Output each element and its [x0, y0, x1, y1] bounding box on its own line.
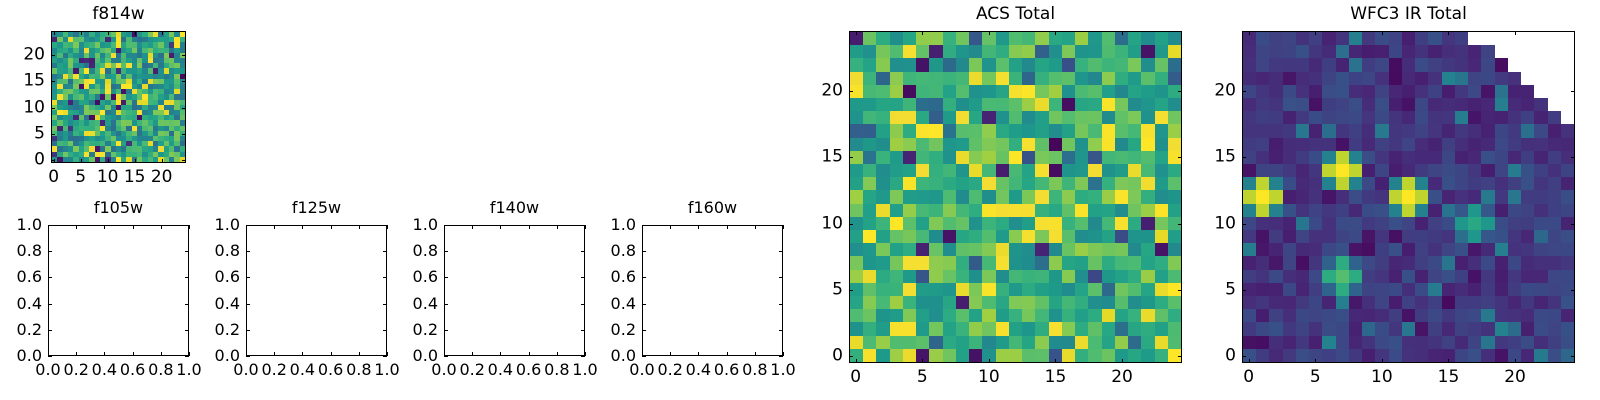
heatmap-cell: [850, 322, 863, 335]
heatmap-cell: [1362, 283, 1375, 296]
heatmap-cell: [929, 32, 942, 45]
heatmap-cell: [1309, 58, 1322, 71]
heatmap-cell: [1495, 349, 1508, 362]
heatmap-cell: [943, 270, 956, 283]
y-tick-label: 0.0: [413, 348, 438, 364]
heatmap-cell: [1256, 283, 1269, 296]
heatmap-cell: [1115, 256, 1128, 269]
y-tick-label: 10: [23, 99, 45, 116]
heatmap-cell: [1428, 230, 1441, 243]
heatmap-cell: [1442, 45, 1455, 58]
heatmap-cell: [1309, 124, 1322, 137]
heatmap-cell: [1336, 111, 1349, 124]
x-tick-label: 0.8: [742, 362, 767, 378]
y-tick: [1242, 157, 1246, 158]
heatmap-cell: [876, 336, 889, 349]
y-tick: [48, 251, 52, 252]
heatmap-cell: [1128, 124, 1141, 137]
heatmap-cell: [982, 151, 995, 164]
heatmap-cell: [1495, 283, 1508, 296]
heatmap-cell: [1009, 230, 1022, 243]
heatmap-cell: [1362, 124, 1375, 137]
heatmap-cell: [1561, 336, 1574, 349]
y-tick: [779, 356, 783, 357]
y-tick-label: 10: [821, 215, 843, 232]
heatmap-cell: [982, 124, 995, 137]
y-tick-label: 20: [821, 82, 843, 99]
heatmap-cell: [1022, 296, 1035, 309]
heatmap-cell: [1102, 58, 1115, 71]
heatmap-cell: [1128, 217, 1141, 230]
heatmap-cell: [850, 111, 863, 124]
heatmap-cell: [876, 164, 889, 177]
y-tick: [246, 356, 250, 357]
heatmap-cell: [1115, 124, 1128, 137]
heatmap-cell: [1322, 111, 1335, 124]
y-tick: [1571, 356, 1575, 357]
heatmap-cell: [1322, 85, 1335, 98]
heatmap-cell: [1141, 322, 1154, 335]
heatmap-cell: [969, 32, 982, 45]
heatmap-cell: [969, 177, 982, 190]
y-tick: [1178, 91, 1182, 92]
heatmap-cell: [996, 151, 1009, 164]
heatmap-cell: [1309, 85, 1322, 98]
heatmap-cell: [1428, 177, 1441, 190]
heatmap-cell: [929, 243, 942, 256]
heatmap-cell: [1062, 138, 1075, 151]
heatmap-cell: [1062, 256, 1075, 269]
heatmap-cell: [1035, 283, 1048, 296]
heatmap-cell: [890, 349, 903, 362]
heatmap-cell: [1389, 217, 1402, 230]
heatmap-cell: [903, 85, 916, 98]
heatmap-cell: [1534, 256, 1547, 269]
heatmap-cell: [956, 151, 969, 164]
heatmap-cell-masked: [1468, 32, 1481, 45]
heatmap-cell: [1035, 243, 1048, 256]
heatmap-cell: [850, 164, 863, 177]
heatmap-cell: [1062, 111, 1075, 124]
heatmap-cell: [1389, 111, 1402, 124]
heatmap-cell: [1442, 204, 1455, 217]
heatmap-cell: [1102, 217, 1115, 230]
heatmap-cell-masked: [1481, 32, 1494, 45]
heatmap-cell: [1168, 204, 1181, 217]
y-tick: [581, 225, 585, 226]
x-tick: [1382, 31, 1383, 35]
heatmap-cell: [1468, 124, 1481, 137]
heatmap-cell: [1495, 217, 1508, 230]
heatmap-cell: [956, 190, 969, 203]
heatmap-cell: [929, 72, 942, 85]
heatmap-cell: [1349, 256, 1362, 269]
heatmap-cell: [1508, 309, 1521, 322]
heatmap-cell: [929, 177, 942, 190]
heatmap-cell: [1375, 270, 1388, 283]
heatmap-cell: [1402, 72, 1415, 85]
heatmap-cell: [943, 256, 956, 269]
heatmap-cell: [1468, 138, 1481, 151]
heatmap-cell: [956, 32, 969, 45]
heatmap-cell: [1362, 256, 1375, 269]
heatmap-cell: [1088, 177, 1101, 190]
heatmap-cell: [1141, 151, 1154, 164]
heatmap-cell: [903, 111, 916, 124]
heatmap-cell: [1141, 336, 1154, 349]
heatmap-cell: [1362, 58, 1375, 71]
y-tick: [1571, 290, 1575, 291]
heatmap-cell: [1049, 98, 1062, 111]
heatmap-cell: [863, 256, 876, 269]
heatmap-cell: [1415, 164, 1428, 177]
heatmap-cell-masked: [1534, 58, 1547, 71]
heatmap-cell: [916, 217, 929, 230]
heatmap-cell: [1035, 230, 1048, 243]
heatmap-cell: [850, 72, 863, 85]
heatmap-cell: [1088, 256, 1101, 269]
heatmap-cell: [929, 124, 942, 137]
heatmap-cell-masked: [1521, 58, 1534, 71]
heatmap-cell: [1269, 190, 1282, 203]
heatmap-cell: [1362, 32, 1375, 45]
heatmap-cell: [956, 336, 969, 349]
heatmap-cell: [1428, 111, 1441, 124]
heatmap-cell: [1115, 230, 1128, 243]
heatmap-cell: [876, 151, 889, 164]
heatmap-cell: [1009, 45, 1022, 58]
x-tick-label: 0.6: [318, 362, 343, 378]
heatmap-cell-masked: [1521, 45, 1534, 58]
heatmap-cell: [1375, 336, 1388, 349]
x-tick: [529, 352, 530, 356]
heatmap-cell: [1322, 296, 1335, 309]
heatmap-cell: [890, 72, 903, 85]
heatmap-cell: [1375, 230, 1388, 243]
heatmap-cell: [1521, 349, 1534, 362]
y-tick: [642, 277, 646, 278]
heatmap-cell: [1521, 322, 1534, 335]
y-tick: [581, 277, 585, 278]
heatmap-cell-masked: [1548, 98, 1561, 111]
heatmap-cell: [1375, 164, 1388, 177]
heatmap-cell: [1102, 151, 1115, 164]
heatmap-cell: [1362, 270, 1375, 283]
heatmap-cell: [1336, 138, 1349, 151]
x-tick: [557, 352, 558, 356]
heatmap-cell: [1256, 72, 1269, 85]
heatmap-cell: [1088, 309, 1101, 322]
heatmap-cell: [1481, 270, 1494, 283]
heatmap-cell: [1508, 336, 1521, 349]
heatmap-cell: [876, 98, 889, 111]
heatmap-cell: [1088, 164, 1101, 177]
y-tick-label: 0.8: [413, 243, 438, 259]
heatmap-cell: [850, 98, 863, 111]
heatmap-cell: [1402, 138, 1415, 151]
heatmap-cell: [1283, 32, 1296, 45]
heatmap-cell: [1415, 256, 1428, 269]
heatmap-cell: [996, 270, 1009, 283]
heatmap-cell: [1375, 177, 1388, 190]
y-tick-label: 0.8: [17, 243, 42, 259]
heatmap-cell: [1141, 230, 1154, 243]
heatmap-cell: [1521, 336, 1534, 349]
heatmap-cell: [1256, 138, 1269, 151]
heatmap-cell: [1075, 322, 1088, 335]
plot-area-f160w: [642, 225, 783, 356]
heatmap-cell: [1035, 164, 1048, 177]
heatmap-cell: [1035, 190, 1048, 203]
heatmap-cell: [956, 256, 969, 269]
heatmap-cell: [1243, 190, 1256, 203]
heatmap-cell: [1155, 85, 1168, 98]
heatmap-cell: [1168, 138, 1181, 151]
heatmap-cell: [1402, 177, 1415, 190]
y-tick-label: 0.6: [17, 269, 42, 285]
heatmap-cell: [1402, 58, 1415, 71]
heatmap-cell: [916, 336, 929, 349]
heatmap-cell: [1088, 217, 1101, 230]
heatmap-cell: [1128, 270, 1141, 283]
heatmap-cell: [1243, 138, 1256, 151]
x-tick: [161, 352, 162, 356]
heatmap-cell: [1283, 98, 1296, 111]
heatmap-cell: [1168, 322, 1181, 335]
heatmap-cell: [969, 72, 982, 85]
heatmap-cell: [1075, 190, 1088, 203]
heatmap-cell: [1481, 309, 1494, 322]
x-tick: [1249, 31, 1250, 35]
x-tick: [189, 352, 190, 356]
heatmap-cell: [1508, 256, 1521, 269]
heatmap-cell: [1322, 349, 1335, 362]
heatmap-cell: [1428, 336, 1441, 349]
heatmap-cell: [916, 296, 929, 309]
heatmap-cell: [929, 151, 942, 164]
heatmap-cell: [1062, 85, 1075, 98]
heatmap-cell: [1022, 256, 1035, 269]
heatmap-cell: [1455, 111, 1468, 124]
heatmap-cell: [1415, 283, 1428, 296]
heatmap-cell: [1141, 243, 1154, 256]
heatmap-cell: [1548, 270, 1561, 283]
heatmap-cell: [1102, 296, 1115, 309]
heatmap-cell: [1402, 256, 1415, 269]
heatmap-cell: [1495, 190, 1508, 203]
heatmap-cell: [1269, 98, 1282, 111]
heatmap-cell: [1088, 98, 1101, 111]
heatmap-cell: [1534, 336, 1547, 349]
plot-area-wfc3-ir-total: [1242, 31, 1575, 363]
heatmap-cell: [1389, 322, 1402, 335]
heatmap-cell: [1243, 230, 1256, 243]
y-tick: [383, 225, 387, 226]
heatmap-cell: [1455, 256, 1468, 269]
heatmap-cell: [1375, 45, 1388, 58]
heatmap-cell: [1322, 322, 1335, 335]
heatmap-cell: [1243, 58, 1256, 71]
heatmap-cell: [1508, 270, 1521, 283]
x-tick: [856, 31, 857, 35]
heatmap-cell: [863, 32, 876, 45]
heatmap-cell: [969, 230, 982, 243]
heatmap-cell: [929, 111, 942, 124]
heatmap-cell: [876, 283, 889, 296]
heatmap-cell: [1468, 98, 1481, 111]
heatmap-cell: [929, 138, 942, 151]
heatmap-cell: [1256, 151, 1269, 164]
heatmap-cell: [1269, 85, 1282, 98]
heatmap-cell: [1088, 270, 1101, 283]
y-tick: [444, 330, 448, 331]
heatmap-cell: [1035, 204, 1048, 217]
heatmap-cell: [1049, 204, 1062, 217]
heatmap-cell: [1322, 217, 1335, 230]
heatmap-cell: [1455, 349, 1468, 362]
heatmap-cell: [876, 296, 889, 309]
heatmap-cell: [876, 72, 889, 85]
heatmap-cell: [1088, 58, 1101, 71]
y-tick-label: 0.4: [413, 296, 438, 312]
y-tick: [51, 160, 55, 161]
heatmap-cell: [996, 32, 1009, 45]
heatmap-cell: [1389, 336, 1402, 349]
heatmap-cell: [850, 177, 863, 190]
x-tick-label: 5: [917, 369, 928, 386]
heatmap-cell: [1168, 190, 1181, 203]
heatmap-cell: [1243, 72, 1256, 85]
heatmap-cell: [1155, 243, 1168, 256]
heatmap-cell: [1088, 296, 1101, 309]
heatmap-cell: [1349, 309, 1362, 322]
heatmap-cell: [1402, 190, 1415, 203]
heatmap-cell: [1128, 45, 1141, 58]
x-tick: [108, 31, 109, 35]
heatmap-cell: [1102, 85, 1115, 98]
heatmap-cell: [863, 349, 876, 362]
y-tick: [1571, 91, 1575, 92]
heatmap-cell: [1336, 177, 1349, 190]
heatmap-cell: [1481, 72, 1494, 85]
heatmap-cell: [1481, 177, 1494, 190]
heatmap-cell: [1128, 138, 1141, 151]
heatmap-cell: [1283, 45, 1296, 58]
heatmap-cell: [1296, 151, 1309, 164]
heatmap-cell: [1269, 322, 1282, 335]
heatmap-cell: [1336, 72, 1349, 85]
heatmap-cell: [1283, 283, 1296, 296]
heatmap-cell: [1243, 243, 1256, 256]
heatmap-cell: [1455, 230, 1468, 243]
heatmap-cell: [1075, 151, 1088, 164]
heatmap-cell: [1243, 177, 1256, 190]
heatmap-cell: [850, 243, 863, 256]
y-tick: [48, 277, 52, 278]
x-tick-label: 10: [978, 369, 1000, 386]
heatmap-cell: [1428, 256, 1441, 269]
panel-title-f140w: f140w: [490, 200, 539, 216]
heatmap-cell: [969, 204, 982, 217]
heatmap-cell: [1283, 309, 1296, 322]
heatmap-cell: [1495, 270, 1508, 283]
heatmap-cell: [1455, 190, 1468, 203]
heatmap-cell: [1168, 164, 1181, 177]
heatmap-cell: [1468, 85, 1481, 98]
heatmap-cell: [1534, 322, 1547, 335]
heatmap-cell: [1075, 177, 1088, 190]
heatmap-cell: [1128, 256, 1141, 269]
heatmap-cell: [1389, 151, 1402, 164]
y-tick-label: 0.2: [17, 322, 42, 338]
heatmap-cell: [1022, 45, 1035, 58]
x-tick-label: 0: [48, 169, 59, 186]
heatmap-cell: [982, 283, 995, 296]
heatmap-cell: [1168, 32, 1181, 45]
heatmap-cell: [1075, 217, 1088, 230]
heatmap-cell: [916, 283, 929, 296]
heatmap-cell: [1022, 85, 1035, 98]
heatmap-cell: [943, 85, 956, 98]
heatmap-cell: [916, 124, 929, 137]
heatmap-cell: [982, 270, 995, 283]
heatmap-cell: [1442, 243, 1455, 256]
heatmap-cell: [876, 85, 889, 98]
heatmap-cell: [1402, 243, 1415, 256]
heatmap-cell: [1415, 296, 1428, 309]
heatmap-cell: [1336, 164, 1349, 177]
heatmap-cell: [1022, 283, 1035, 296]
heatmap-cell: [1468, 45, 1481, 58]
heatmap-cell: [1128, 72, 1141, 85]
y-tick-label: 0.2: [413, 322, 438, 338]
heatmap-cell: [1243, 256, 1256, 269]
heatmap-cell: [1322, 98, 1335, 111]
y-tick-label: 5: [1225, 281, 1236, 298]
heatmap-cell: [1349, 190, 1362, 203]
heatmap-cell: [1362, 177, 1375, 190]
heatmap-cell: [1415, 124, 1428, 137]
heatmap-cell: [1375, 72, 1388, 85]
heatmap-cell: [1362, 349, 1375, 362]
heatmap-cell: [903, 349, 916, 362]
heatmap-cell: [982, 85, 995, 98]
heatmap-cell: [1022, 98, 1035, 111]
heatmap-cell: [1415, 85, 1428, 98]
heatmap-cell: [1561, 270, 1574, 283]
heatmap-cell: [1141, 190, 1154, 203]
x-tick: [1122, 359, 1123, 363]
heatmap-cell: [943, 296, 956, 309]
heatmap-cell: [1102, 98, 1115, 111]
heatmap-cell: [1322, 283, 1335, 296]
heatmap-cell: [1349, 98, 1362, 111]
heatmap-cell: [1009, 270, 1022, 283]
heatmap-cell: [863, 309, 876, 322]
heatmap-cell: [1168, 124, 1181, 137]
heatmap-cell: [1336, 217, 1349, 230]
heatmap-cell: [1309, 217, 1322, 230]
heatmap-cell: [1062, 98, 1075, 111]
heatmap-cell: [1455, 177, 1468, 190]
heatmap-cell: [1548, 124, 1561, 137]
heatmap-cell: [969, 309, 982, 322]
heatmap-cell: [903, 270, 916, 283]
x-tick: [108, 159, 109, 163]
heatmap-cell: [876, 45, 889, 58]
heatmap-cell: [969, 164, 982, 177]
heatmap-cell: [876, 270, 889, 283]
